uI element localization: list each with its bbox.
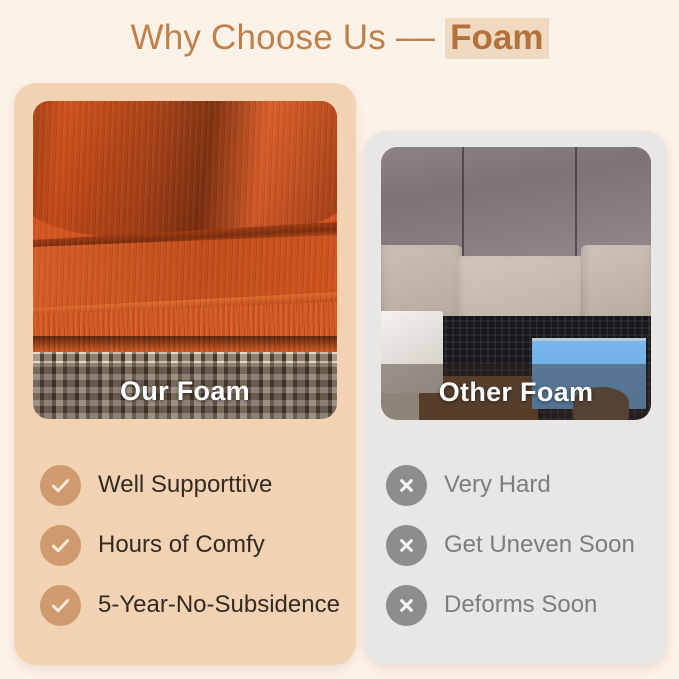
list-item: Deforms Soon: [386, 575, 662, 635]
check-circle-icon: [40, 585, 81, 626]
check-circle-icon: [40, 525, 81, 566]
other-foam-feature-list: Very Hard Get Uneven Soon Deforms Soon: [386, 455, 662, 635]
check-circle-icon: [40, 465, 81, 506]
list-item-label: 5-Year-No-Subsidence: [98, 593, 340, 617]
cross-circle-icon: [386, 585, 427, 626]
cross-circle-icon: [386, 465, 427, 506]
list-item: 5-Year-No-Subsidence: [40, 575, 350, 635]
cross-circle-icon: [386, 525, 427, 566]
page-title-plain: Why Choose Us ––: [131, 18, 446, 57]
wicker-shadow: [33, 336, 337, 352]
list-item-label: Get Uneven Soon: [444, 533, 635, 557]
list-item-label: Deforms Soon: [444, 593, 597, 617]
orange-back-cushion: [33, 101, 337, 244]
other-foam-caption: Other Foam: [381, 364, 651, 420]
list-item-label: Well Supporttive: [98, 473, 272, 497]
list-item-label: Hours of Comfy: [98, 533, 265, 557]
page-title: Why Choose Us –– Foam: [0, 18, 679, 58]
list-item-label: Very Hard: [444, 473, 551, 497]
list-item: Very Hard: [386, 455, 662, 515]
list-item: Hours of Comfy: [40, 515, 350, 575]
other-foam-photo: Other Foam: [381, 147, 651, 420]
our-foam-feature-list: Well Supporttive Hours of Comfy 5-Year-N…: [40, 455, 350, 635]
our-foam-caption: Our Foam: [33, 363, 337, 419]
list-item: Well Supporttive: [40, 455, 350, 515]
our-foam-photo: Our Foam: [33, 101, 337, 419]
list-item: Get Uneven Soon: [386, 515, 662, 575]
page-title-highlight: Foam: [445, 18, 548, 59]
